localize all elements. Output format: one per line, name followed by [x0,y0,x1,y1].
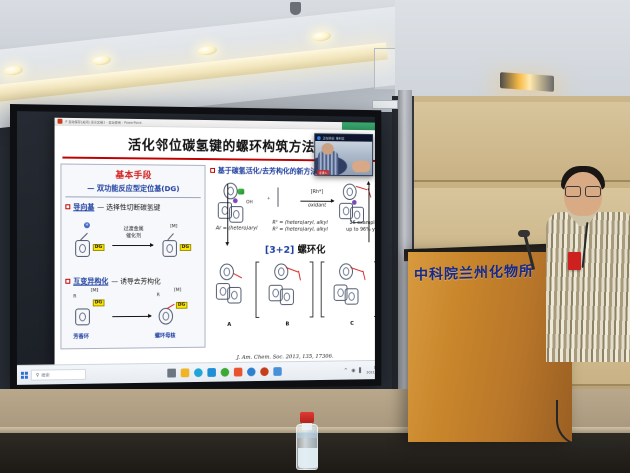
citation: J. Am. Chem. Soc. 2013, 135, 17306. [237,353,334,360]
intermediate-a-ring [220,263,234,280]
taskbar-app-icons [102,366,344,378]
plus-sign: + [267,196,271,201]
speaker-badge [568,252,581,270]
reaction-arrow [112,315,151,316]
metal-tag: [M] [170,224,177,229]
spiro-center [352,200,357,205]
chem-bond [167,233,173,240]
r-group-label: R [73,294,76,299]
hydroxyl-label: OH [246,200,253,205]
scheme-1-diagram: H DG 过渡金属 催化剂 [M] DG [65,214,200,272]
product-aryl-ring [343,183,357,199]
glasses-icon [565,186,601,195]
bullet-item-1: 导向基 — 选择性切断碳氢键 [65,202,200,213]
catalyst-label: [Rh*] [300,189,333,195]
windows-taskbar[interactable]: ⚲ 搜索 ^ ◉ ▌ [17,360,375,385]
speaker-person [540,160,630,410]
powerpoint-icon[interactable] [260,367,268,376]
ceiling-camera-icon [290,2,301,15]
mail-icon[interactable] [207,368,216,377]
result-examples: 26 examples [341,220,375,226]
square-bullet-icon [210,168,215,173]
mechanism-letter-b: B [285,321,289,327]
mechanism-letter-c: C [350,321,354,327]
task-view-icon[interactable] [167,369,176,378]
display-screen: 图 示例(1) P 自动保存(关闭) 演示文稿1 - 最近使用 - PowerP… [17,111,375,385]
bullet-2-rest: — 诱导去芳构化 [111,276,160,286]
water-bottle [296,412,318,470]
main-reaction-scheme: OH Ar = (hetero)aryl + [Rh*] oxidant R¹ … [210,178,375,239]
dg-tag: DG [176,301,187,308]
floor-cable [556,400,616,446]
square-bullet-icon [65,204,70,209]
meeting-icon[interactable] [247,367,255,376]
hydrogen-label: H [84,222,90,228]
window-title: P 自动保存(关闭) 演示文稿1 - 最近使用 - PowerPoint [65,119,141,125]
scheme-2-diagram: [M] R DG [M] R DG [65,288,200,344]
upward-arrow [369,184,370,241]
taskbar-left-group: ⚲ 搜索 [17,369,102,381]
metal-tag: [M] [174,288,181,293]
pip-person-head [322,143,334,155]
alkyne-bond [278,187,279,206]
clock-date: 2021/6/25 [366,370,375,374]
chevron-up-icon[interactable]: ^ [344,368,348,374]
intermediate-b-ring [280,288,294,305]
bond-highlight [233,273,242,278]
basic-methods-subheading: — 双功能反应型定位基(DG) [65,182,200,198]
pip-presenter-name: 正在讲话: 徐利文 [323,135,345,140]
intermediate-c-ring [339,263,353,279]
highlighted-bond [167,303,175,308]
r-group-label: R [157,293,160,298]
windows-start-icon[interactable] [21,372,28,379]
bullet-1-rest: — 选择性切断碳氢键 [97,202,160,212]
bullet-1-key: 导向基 [73,202,94,212]
bracket-label: [3+2] [265,245,294,256]
dg-tag: DG [93,299,104,306]
intermediate-c-ring [345,288,359,304]
spiro-caption: 螺环母核 [155,331,176,339]
wechat-icon[interactable] [220,368,229,377]
intermediate-a-ring [227,287,241,304]
pip-role-badge: 主讲人 [317,170,329,176]
file-explorer-icon[interactable] [180,368,189,377]
bottle-cap [300,412,314,423]
search-placeholder: 搜索 [41,372,49,378]
bullet-item-2: 互变异构化 — 诱导去芳构化 [65,276,200,286]
bottle-label [296,432,318,438]
dg-tag: DG [93,244,104,251]
dg-tag: DG [180,244,191,251]
aromatic-caption: 芳香环 [73,332,89,340]
intermediate-b-ring [274,263,288,279]
bottle-water [298,448,318,468]
square-bullet-icon [65,279,70,284]
bottle-body [296,424,318,470]
bottle-neck [302,422,312,430]
bond-highlight [362,270,365,280]
presenter-video-overlay[interactable]: 正在讲话: 徐利文 主讲人 [314,133,373,176]
downward-arrow [227,183,228,241]
reagent-note-2: R² = (hetero)aryl, alkyl [272,226,333,232]
network-icon[interactable]: ◉ [351,367,355,373]
new-bond-highlight [356,185,368,190]
volume-icon[interactable]: ▌ [359,367,363,373]
wps-icon[interactable] [233,368,241,377]
aryl-ring [223,182,237,199]
edge-icon[interactable] [194,368,203,377]
powerpoint-icon [58,119,63,124]
microphone-icon [317,136,321,140]
search-icon: ⚲ [36,372,40,378]
reagent-note-1: R¹ = (hetero)aryl, alkyl [272,219,333,225]
reaction-arrow [112,245,153,246]
bracket-left [321,261,325,317]
search-input[interactable]: ⚲ 搜索 [31,369,86,381]
chem-bond [80,232,88,240]
exit-sign [372,100,398,109]
benzene-ring [163,240,177,257]
spiro-label-text: 螺环化 [298,245,326,256]
presentation-display: 图 示例(1) P 自动保存(关闭) 演示文稿1 - 最近使用 - PowerP… [10,104,381,392]
aromatic-ring [75,308,90,325]
bracket-right [374,261,375,317]
basic-methods-box: 基本手段 — 双功能反应型定位基(DG) 导向基 — 选择性切断碳氢键 [60,163,205,349]
microphone-icon [518,230,530,237]
clock[interactable]: 16:48 2021/6/25 [366,366,375,375]
basic-methods-heading: 基本手段 [65,167,200,181]
pip-video-feed: 主讲人 [315,141,373,176]
bracket-left [256,261,260,317]
folder-icon[interactable] [273,367,281,376]
metal-tag: [M] [91,288,98,293]
spiro-section-label: [3+2] 螺环化 [210,241,375,256]
result-yield: up to 96% yield [341,226,375,232]
bracket-right [310,261,314,317]
activation-highlight [238,188,245,194]
slide-right-column: 基于碳氢活化/去芳构化的新方法 OH Ar = (hetero)aryl [210,165,375,365]
reaction-condition-1: 过渡金属 [112,226,155,232]
speaker-shirt [546,212,630,362]
bullet-2-key: 互变异构化 [73,276,108,286]
benzene-ring [75,240,90,257]
pip-person-hand [352,161,370,173]
oxidant-label: oxidant [300,202,333,208]
spiro-ring [159,307,173,324]
taskbar-system-tray: ^ ◉ ▌ 16:48 2021/6/25 [344,366,375,375]
right-column-heading: 基于碳氢活化/去芳构化的新方法 [218,165,317,177]
conference-room-scene: 图 示例(1) P 自动保存(关闭) 演示文稿1 - 最近使用 - PowerP… [0,0,630,473]
mechanism-row: A B [210,257,375,327]
fused-ring [229,206,243,223]
mechanism-letter-a: A [227,322,231,328]
metal-center [233,198,238,203]
slide-columns: 基本手段 — 双功能反应型定位基(DG) 导向基 — 选择性切断碳氢键 [60,163,374,367]
reaction-condition-2: 催化剂 [112,233,155,239]
substrate-note: Ar = (hetero)aryl [212,225,261,231]
slide-left-column: 基本手段 — 双功能反应型定位基(DG) 导向基 — 选择性切断碳氢键 [60,163,205,367]
bond-highlight [298,270,301,280]
